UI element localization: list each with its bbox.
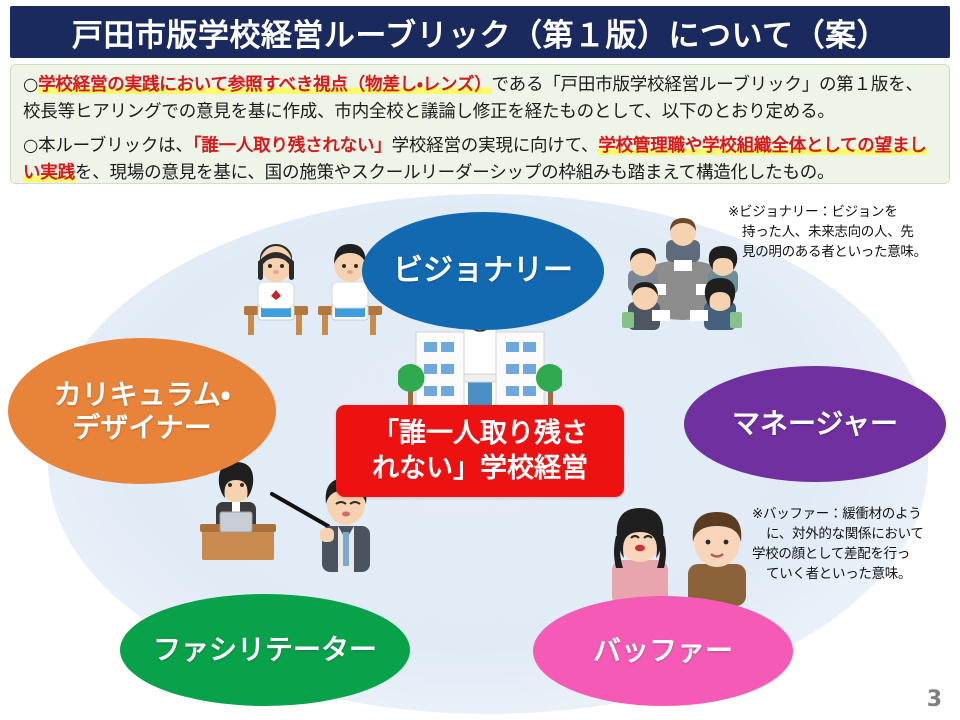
slide-root: 戸田市版学校経営ルーブリック（第１版）について（案） ○学校経営の実践において参… bbox=[0, 0, 960, 720]
two-students-tablets-illustration bbox=[238, 234, 388, 344]
role-label-curriculum-line2: デザイナー bbox=[72, 411, 211, 444]
note-visionary-line2: 持った人、未来志向の人、先 bbox=[728, 222, 952, 242]
role-label-curriculum-line1: カリキュラム・ bbox=[54, 378, 231, 411]
core-concept-line1: 「誰一人取り残さ bbox=[372, 418, 588, 449]
diagram-stage: ビジョナリー カリキュラム・ デザイナー マネージャー ファシリテーター バッフ… bbox=[0, 186, 960, 720]
slide-title-bar: 戸田市版学校経営ルーブリック（第１版）について（案） bbox=[10, 6, 950, 58]
lead-text-box: ○学校経営の実践において参照すべき視点（物差し・レンズ）である「戸田市版学校経営… bbox=[10, 64, 950, 184]
note-visionary-line1: ※ビジョナリー：ビジョンを bbox=[728, 204, 897, 220]
role-label-manager: マネージャー bbox=[732, 407, 898, 440]
note-buffer-line2: に、対外的な関係において bbox=[752, 524, 952, 544]
bullet-marker-1: ○ bbox=[23, 75, 38, 95]
lead-bullet-2-part2: 学校経営の実現に向けて、 bbox=[392, 136, 599, 156]
core-concept-line2: れない」学校経営 bbox=[372, 453, 588, 484]
bullet-marker-2: ○ bbox=[23, 136, 38, 156]
lead-bullet-2-part1: 本ルーブリックは、 bbox=[38, 136, 193, 156]
lead-bullet-2: ○本ルーブリックは、「誰一人取り残されない」学校経営の実現に向けて、学校管理職や… bbox=[23, 133, 937, 187]
lead-bullet-2-part3: を、現場の意見を基に、国の施策やスクールリーダーシップの枠組みも踏まえて構造化し… bbox=[75, 163, 834, 183]
note-buffer-line4: ていく者といった意味。 bbox=[752, 564, 952, 584]
role-label-curriculum-designer: カリキュラム・ デザイナー bbox=[54, 378, 231, 444]
page-number: 3 bbox=[927, 687, 942, 712]
lead-bullet-2-highlight-1: 「誰一人取り残されない」 bbox=[193, 136, 392, 156]
role-label-visionary: ビジョナリー bbox=[393, 253, 573, 288]
role-ellipse-manager[interactable]: マネージャー bbox=[684, 366, 946, 482]
core-concept-box[interactable]: 「誰一人取り残さ れない」学校経営 bbox=[336, 405, 624, 497]
core-concept-label: 「誰一人取り残さ れない」学校経営 bbox=[364, 416, 596, 486]
note-buffer: ※バッファー：緩衝材のよう に、対外的な関係において 学校の顔として差配を行っ … bbox=[752, 504, 952, 584]
role-ellipse-visionary[interactable]: ビジョナリー bbox=[362, 212, 604, 330]
note-buffer-line3: 学校の顔として差配を行っ bbox=[752, 546, 910, 562]
note-visionary: ※ビジョナリー：ビジョンを 持った人、未来志向の人、先 見の明のある者といった意… bbox=[728, 202, 952, 262]
lead-bullet-1-highlight: 学校経営の実践において参照すべき視点（物差し・レンズ） bbox=[38, 75, 491, 95]
role-label-buffer: バッファー bbox=[593, 634, 733, 667]
note-visionary-line3: 見の明のある者といった意味。 bbox=[728, 242, 952, 262]
role-ellipse-facilitator[interactable]: ファシリテーター bbox=[120, 594, 410, 706]
role-ellipse-curriculum-designer[interactable]: カリキュラム・ デザイナー bbox=[8, 338, 276, 484]
guardians-pair-illustration bbox=[600, 498, 760, 608]
role-ellipse-buffer[interactable]: バッファー bbox=[533, 596, 793, 706]
lead-bullet-1: ○学校経営の実践において参照すべき視点（物差し・レンズ）である「戸田市版学校経営… bbox=[23, 72, 937, 126]
note-buffer-line1: ※バッファー：緩衝材のよう bbox=[752, 506, 921, 522]
role-label-facilitator: ファシリテーター bbox=[153, 633, 377, 666]
page-title: 戸田市版学校経営ルーブリック（第１版）について（案） bbox=[72, 10, 888, 55]
